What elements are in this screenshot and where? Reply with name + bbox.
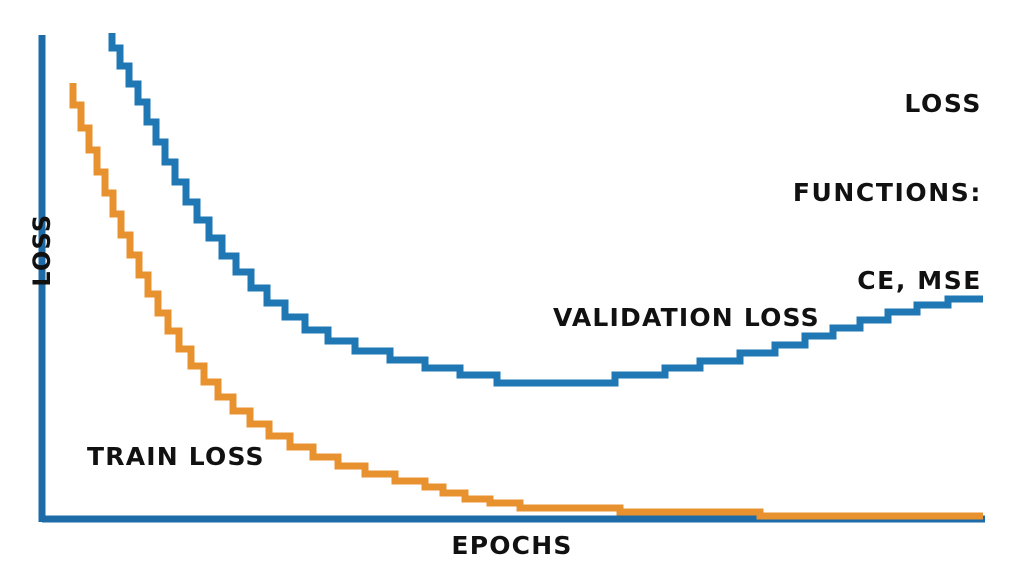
chart-title-line-1: LOSS <box>793 89 982 119</box>
chart-title: LOSS FUNCTIONS: CE, MSE <box>793 30 982 355</box>
x-axis-label: EPOCHS <box>0 531 1024 561</box>
validation-loss-label: VALIDATION LOSS <box>553 303 820 333</box>
y-axis-label: LOSS <box>28 200 56 300</box>
loss-curves-chart: LOSS FUNCTIONS: CE, MSE LOSS EPOCHS VALI… <box>0 0 1024 565</box>
chart-title-line-3: CE, MSE <box>793 266 982 296</box>
train-loss-label: TRAIN LOSS <box>87 442 265 472</box>
chart-title-line-2: FUNCTIONS: <box>793 178 982 208</box>
